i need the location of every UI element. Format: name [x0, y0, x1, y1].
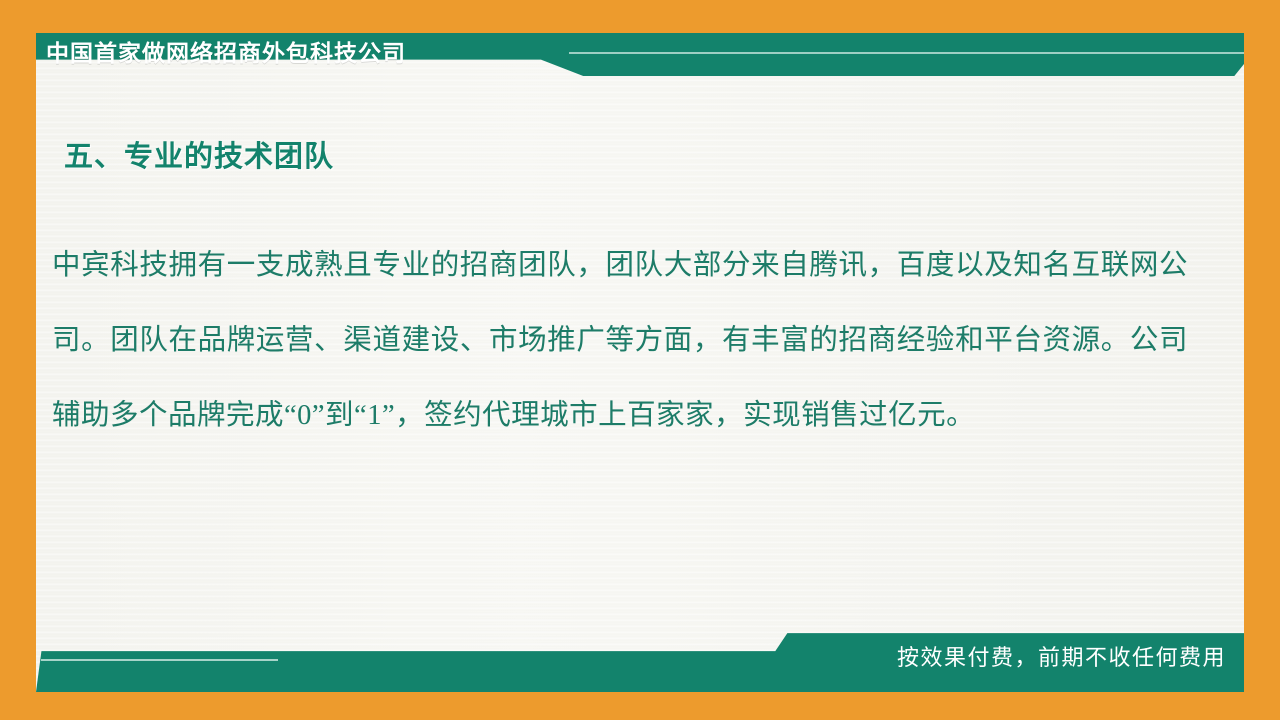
- slide-frame-left-edge: [0, 0, 36, 720]
- header-hairline-divider: [569, 52, 1244, 54]
- slide-frame-top-edge: [0, 0, 1280, 33]
- presentation-slide: 中国首家做网络招商外包科技公司 五、专业的技术团队 中宾科技拥有一支成熟且专业的…: [0, 0, 1280, 720]
- slide-frame-bottom-edge: [0, 692, 1280, 720]
- footer-tagline: 按效果付费，前期不收任何费用: [897, 641, 1226, 675]
- slide-footer-banner: 按效果付费，前期不收任何费用: [36, 630, 1244, 692]
- header-title: 中国首家做网络招商外包科技公司: [46, 37, 406, 70]
- body-paragraph: 中宾科技拥有一支成熟且专业的招商团队，团队大部分来自腾讯，百度以及知名互联网公司…: [52, 228, 1188, 453]
- slide-frame-right-edge: [1244, 0, 1280, 720]
- body-text-block: 中宾科技拥有一支成熟且专业的招商团队，团队大部分来自腾讯，百度以及知名互联网公司…: [52, 228, 1188, 453]
- footer-hairline-divider: [41, 659, 278, 661]
- slide-header-banner: 中国首家做网络招商外包科技公司: [36, 33, 1244, 76]
- section-heading: 五、专业的技术团队: [64, 133, 334, 175]
